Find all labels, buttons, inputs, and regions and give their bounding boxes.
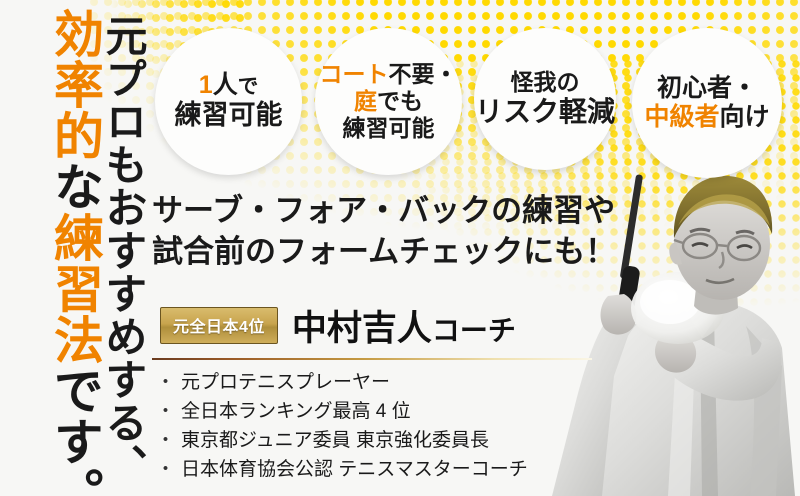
credential-text: 日本体育協会公認 テニスマスターコーチ bbox=[181, 459, 528, 480]
credential-text: 東京都ジュニア委員 東京強化委員長 bbox=[181, 430, 489, 451]
feature-circle-3-line-2: リスク軽減 bbox=[475, 96, 615, 128]
feature-2-kw: コート bbox=[320, 61, 389, 87]
feature-circle-solo-practice: 1人で 練習可能 bbox=[155, 28, 302, 175]
left-hand bbox=[601, 294, 637, 335]
vertical-headline: 元プロもおすすめする、 効率的な練習法です。 bbox=[0, 0, 150, 496]
feature-circle-3-line-1: 怪我の bbox=[511, 69, 580, 96]
feature-circle-1-line-1: 1人で bbox=[199, 71, 258, 100]
bullet-mark: ・ bbox=[156, 372, 175, 393]
right-arm bbox=[659, 332, 781, 401]
coach-role-text: コーチ bbox=[432, 315, 516, 346]
list-item: ・元プロテニスプレーヤー bbox=[156, 368, 528, 397]
headline-part-2: 練習法 bbox=[47, 212, 103, 365]
promo-banner: 元プロもおすすめする、 効率的な練習法です。 1人で 練習可能 コート不要・ 庭… bbox=[0, 0, 800, 496]
feature-2-rest: 不要・ bbox=[389, 61, 458, 87]
feature-circle-4-line-2: 中級者向け bbox=[644, 103, 769, 132]
coach-face bbox=[674, 188, 770, 300]
hair bbox=[674, 176, 772, 238]
coach-credentials: ・元プロテニスプレーヤー ・全日本ランキング最高 4 位 ・東京都ジュニア委員 … bbox=[156, 368, 528, 484]
headline-part-0: 効率的 bbox=[47, 8, 103, 161]
tennis-ball bbox=[631, 272, 725, 344]
coach-name-row: 元全日本4位 中村吉人コーチ bbox=[160, 300, 516, 351]
credentials-list: ・元プロテニスプレーヤー ・全日本ランキング最高 4 位 ・東京都ジュニア委員 … bbox=[156, 368, 528, 484]
feature-1-word: 人 bbox=[213, 71, 238, 99]
credential-text: 全日本ランキング最高 4 位 bbox=[181, 401, 411, 422]
feature-2-rest2: でも bbox=[377, 88, 423, 114]
divider-line bbox=[152, 358, 592, 360]
coach-rank-badge: 元全日本4位 bbox=[160, 307, 278, 344]
feature-circle-injury-risk-reduction: 怪我の リスク軽減 bbox=[474, 28, 616, 170]
feature-circle-2-line-3: 練習可能 bbox=[343, 115, 435, 142]
coach-name: 中村吉人コーチ bbox=[292, 300, 516, 351]
list-item: ・日本体育協会公認 テニスマスターコーチ bbox=[156, 455, 528, 484]
credential-text: 元プロテニスプレーヤー bbox=[181, 372, 390, 393]
main-copy: サーブ・フォア・バックの練習や 試合前のフォームチェックにも！ bbox=[152, 190, 622, 272]
feature-circle-2-line-2: 庭でも bbox=[354, 88, 423, 115]
feature-4-rest: 向け bbox=[720, 103, 770, 131]
feature-circle-4-line-1: 初心者・ bbox=[657, 74, 757, 103]
feature-2-kw2: 庭 bbox=[354, 88, 377, 114]
list-item: ・東京都ジュニア委員 東京強化委員長 bbox=[156, 426, 528, 455]
bullet-mark: ・ bbox=[156, 459, 175, 480]
feature-circle-2-line-1: コート不要・ bbox=[320, 61, 458, 88]
glasses bbox=[674, 234, 760, 260]
feature-1-num: 1 bbox=[199, 71, 213, 99]
torso bbox=[602, 300, 795, 496]
bullet-mark: ・ bbox=[156, 430, 175, 451]
bullet-mark: ・ bbox=[156, 401, 175, 422]
feature-circle-beginner-intermediate: 初心者・ 中級者向け bbox=[632, 28, 782, 178]
right-hand bbox=[655, 332, 696, 373]
headline-part-1: な bbox=[47, 161, 103, 212]
main-copy-line-1: サーブ・フォア・バックの練習や bbox=[152, 190, 622, 231]
headline-column-left: 効率的な練習法です。 bbox=[50, 6, 100, 496]
headline-column-right: 元プロもおすすめする、 bbox=[102, 6, 144, 487]
coach-name-text: 中村吉人 bbox=[292, 309, 432, 348]
left-arm bbox=[552, 318, 644, 496]
feature-circle-1-line-2: 練習可能 bbox=[175, 100, 283, 131]
list-item: ・全日本ランキング最高 4 位 bbox=[156, 397, 528, 426]
feature-4-kw: 中級者 bbox=[644, 103, 719, 131]
main-copy-line-2: 試合前のフォームチェックにも！ bbox=[152, 231, 622, 272]
feature-circle-no-court-needed: コート不要・ 庭でも 練習可能 bbox=[315, 28, 462, 175]
headline-part-3: です。 bbox=[47, 365, 103, 496]
feature-1-particle: で bbox=[238, 75, 259, 98]
